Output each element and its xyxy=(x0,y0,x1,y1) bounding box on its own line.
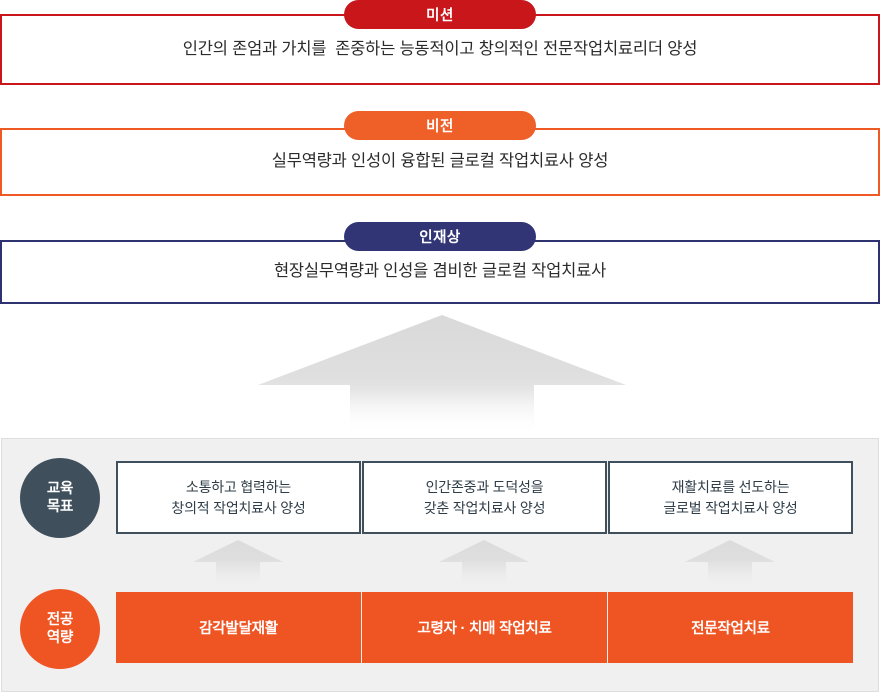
education-goal-box-3-text: 재활치료를 선도하는 글로벌 작업치료사 양성 xyxy=(663,477,797,518)
vision-badge: 비전 xyxy=(344,111,536,140)
education-goal-box-1-text: 소통하고 협력하는 창의적 작업치료사 양성 xyxy=(171,477,305,518)
education-goal-box-2-line2: 갖춘 작업치료사 양성 xyxy=(424,500,546,516)
education-goal-circle: 교육 목표 xyxy=(20,458,100,538)
mission-badge: 미션 xyxy=(344,0,536,29)
education-goal-box-1-line2: 창의적 작업치료사 양성 xyxy=(171,500,305,516)
vision-badge-label: 비전 xyxy=(426,115,454,136)
major-competency-box-1-label: 감각발달재활 xyxy=(199,617,278,638)
mission-text: 인간의 존엄과 가치를 존중하는 능동적이고 창의적인 전문작업치료리더 양성 xyxy=(183,38,697,61)
arrow-up-small-icon xyxy=(438,539,530,589)
education-goal-box-2-text: 인간존중과 도덕성을 갖춘 작업치료사 양성 xyxy=(424,477,546,518)
talent-badge-label: 인재상 xyxy=(419,226,461,247)
arrow-up-small-icon xyxy=(684,539,776,589)
talent-badge: 인재상 xyxy=(344,222,536,251)
talent-text: 현장실무역량과 인성을 겸비한 글로컬 작업치료사 xyxy=(274,260,606,283)
education-goal-box-1: 소통하고 협력하는 창의적 작업치료사 양성 xyxy=(116,461,361,534)
major-competency-box-1: 감각발달재활 xyxy=(116,592,361,663)
major-competency-box-2: 고령자 · 치매 작업치료 xyxy=(362,592,607,663)
education-goal-box-3-line2: 글로벌 작업치료사 양성 xyxy=(663,500,797,516)
major-competency-box-3: 전문작업치료 xyxy=(608,592,853,663)
education-goal-circle-line2: 목표 xyxy=(47,498,73,516)
competency-panel: 교육 목표 소통하고 협력하는 창의적 작업치료사 양성 인간존중과 도덕성을 … xyxy=(1,438,879,692)
arrow-up-small-icon xyxy=(192,539,284,589)
vision-text: 실무역량과 인성이 융합된 글로컬 작업치료사 양성 xyxy=(272,150,609,173)
education-goal-box-3-line1: 재활치료를 선도하는 xyxy=(672,479,790,495)
education-goal-box-2-line1: 인간존중과 도덕성을 xyxy=(426,479,544,495)
education-goal-box-3: 재활치료를 선도하는 글로벌 작업치료사 양성 xyxy=(608,461,853,534)
education-goal-circle-line1: 교육 xyxy=(47,480,73,498)
major-competency-circle-line1: 전공 xyxy=(47,611,73,629)
major-competency-box-2-label: 고령자 · 치매 작업치료 xyxy=(417,617,551,638)
education-goal-box-1-line1: 소통하고 협력하는 xyxy=(186,479,291,495)
education-goal-box-2: 인간존중과 도덕성을 갖춘 작업치료사 양성 xyxy=(362,461,607,534)
major-competency-box-3-label: 전문작업치료 xyxy=(691,617,770,638)
diagram-canvas: 인간의 존엄과 가치를 존중하는 능동적이고 창의적인 전문작업치료리더 양성 … xyxy=(0,0,880,695)
arrow-up-icon xyxy=(256,313,628,435)
major-competency-circle-line2: 역량 xyxy=(47,629,73,647)
mission-badge-label: 미션 xyxy=(426,4,454,25)
major-competency-circle: 전공 역량 xyxy=(20,589,100,669)
